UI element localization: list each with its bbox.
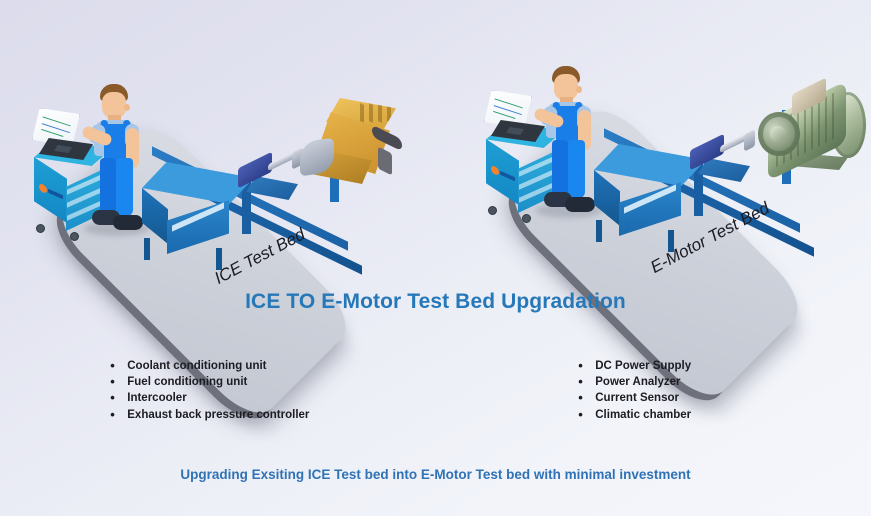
- screen-chart-icon: [41, 112, 73, 142]
- list-item-label: Exhaust back pressure controller: [127, 407, 309, 423]
- engine-ribs: [360, 104, 412, 124]
- list-item: • Current Sensor: [578, 390, 728, 406]
- bullet-icon: •: [110, 358, 114, 374]
- list-item: • Climatic chamber: [578, 407, 728, 423]
- caster-wheel-icon: [488, 206, 497, 215]
- list-item-label: DC Power Supply: [595, 358, 691, 374]
- motor-shaft-hub: [770, 126, 786, 142]
- bullet-icon: •: [110, 374, 114, 390]
- dyno-leg: [596, 220, 602, 242]
- list-item-label: Fuel conditioning unit: [127, 374, 247, 390]
- list-item-label: Climatic chamber: [595, 407, 691, 423]
- scene-ice-test-bed: ICE Test Bed: [0, 34, 414, 304]
- dyno-front: [594, 170, 620, 226]
- ice-component-list: • Coolant conditioning unit • Fuel condi…: [110, 358, 325, 423]
- list-item-label: Coolant conditioning unit: [127, 358, 266, 374]
- list-item: • Fuel conditioning unit: [110, 374, 325, 390]
- bullet-icon: •: [578, 374, 582, 390]
- list-item-label: Power Analyzer: [595, 374, 680, 390]
- leg-right: [568, 140, 585, 198]
- ear: [576, 86, 582, 93]
- feature-lists: • Coolant conditioning unit • Fuel condi…: [0, 358, 871, 423]
- caster-wheel-icon: [522, 214, 531, 223]
- dyno-leg: [144, 238, 150, 260]
- electric-motor: [750, 84, 871, 188]
- shoe-right: [113, 215, 143, 230]
- list-item-label: Intercooler: [127, 390, 186, 406]
- shoe-right: [565, 197, 595, 212]
- list-item: • Coolant conditioning unit: [110, 358, 325, 374]
- bullet-icon: •: [578, 358, 582, 374]
- bullet-icon: •: [110, 407, 114, 423]
- list-item-label: Current Sensor: [595, 390, 679, 406]
- list-item: • Exhaust back pressure controller: [110, 407, 325, 423]
- list-item: • Power Analyzer: [578, 374, 728, 390]
- leg-left: [552, 140, 568, 198]
- emotor-component-list: • DC Power Supply • Power Analyzer • Cur…: [578, 358, 728, 423]
- screen-chart-icon: [493, 94, 525, 124]
- engine-accessory: [378, 147, 392, 176]
- list-item: • DC Power Supply: [578, 358, 728, 374]
- leg-right: [116, 158, 133, 216]
- combustion-engine: [300, 98, 418, 202]
- bullet-icon: •: [578, 407, 582, 423]
- caster-wheel-icon: [36, 224, 45, 233]
- slide-canvas: ICE Test Bed: [0, 0, 871, 516]
- dyno-front: [142, 188, 168, 244]
- bullet-icon: •: [578, 390, 582, 406]
- scene-emotor-test-bed: E-Motor Test Bed: [446, 16, 866, 286]
- leg-left: [100, 158, 116, 216]
- page-title: ICE TO E-Motor Test Bed Upgradation: [0, 290, 871, 314]
- list-item: • Intercooler: [110, 390, 325, 406]
- list-column-emotor: • DC Power Supply • Power Analyzer • Cur…: [436, 358, 871, 423]
- bullet-icon: •: [110, 390, 114, 406]
- caster-wheel-icon: [70, 232, 79, 241]
- list-column-ice: • Coolant conditioning unit • Fuel condi…: [0, 358, 436, 423]
- ear: [124, 104, 130, 111]
- footnote-caption: Upgrading Exsiting ICE Test bed into E-M…: [0, 467, 871, 482]
